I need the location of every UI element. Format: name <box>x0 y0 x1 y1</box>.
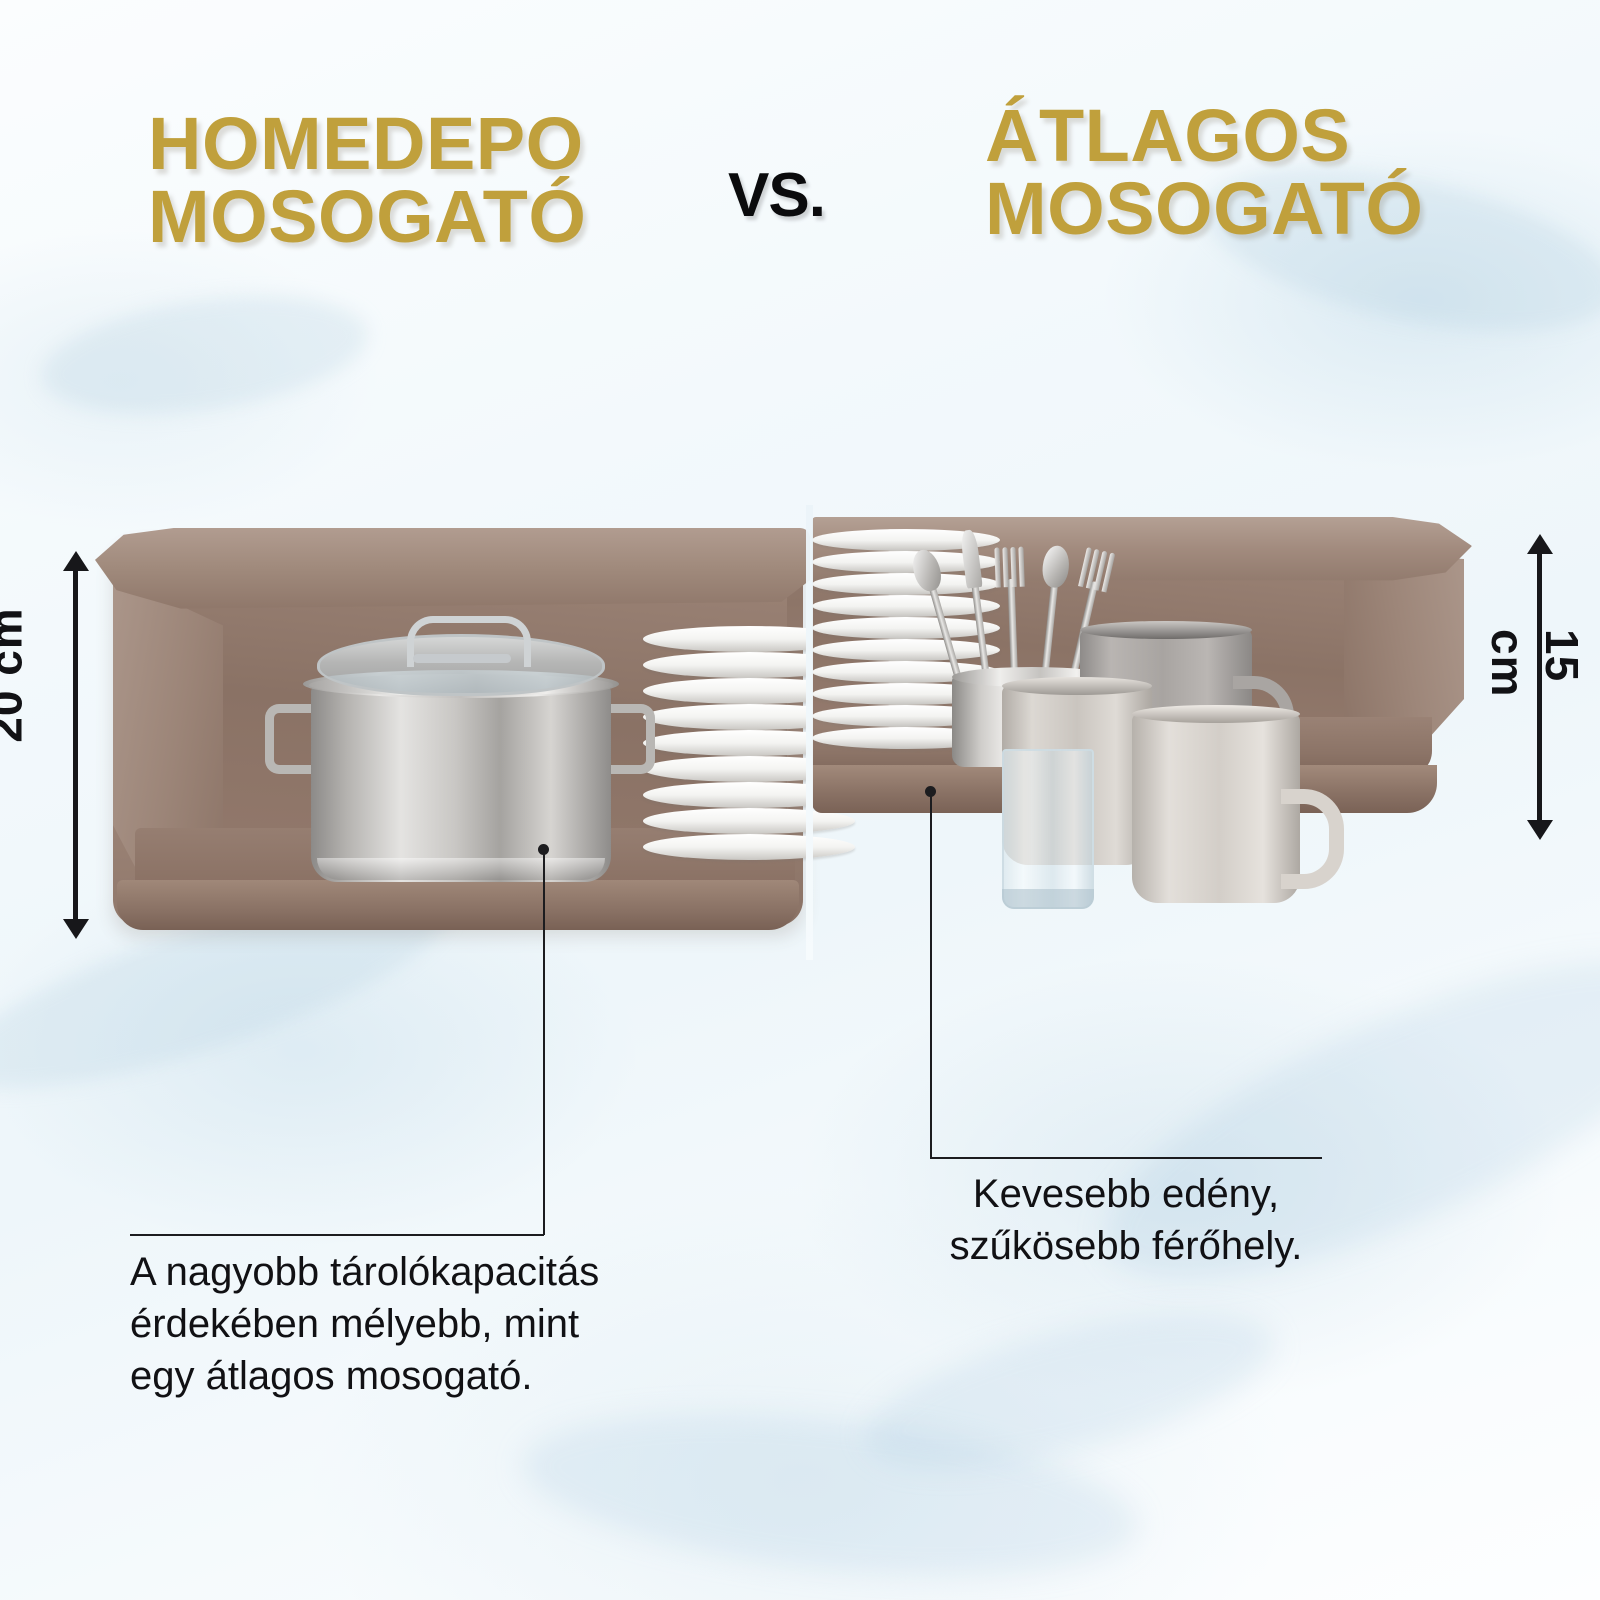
caption-left: A nagyobb tárolókapacitás érdekében mély… <box>130 1246 599 1402</box>
marble-vein <box>1067 898 1600 1341</box>
arrow-head-down <box>63 919 89 939</box>
sink-rim <box>95 528 810 612</box>
deep-sink-photo <box>95 528 810 946</box>
dimension-line <box>73 566 78 921</box>
sink-front-edge <box>117 880 799 930</box>
leader-vertical <box>930 794 932 1158</box>
mug-rim <box>1002 677 1152 695</box>
comparison-infographic: HOMEDEPO MOSOGATÓ VS. ÁTLAGOS MOSOGATÓ <box>0 0 1600 1600</box>
mug-handle <box>1281 789 1344 889</box>
headline-right: ÁTLAGOS MOSOGATÓ <box>985 100 1423 245</box>
plate <box>812 595 1000 617</box>
mug-rim <box>1132 705 1300 723</box>
photo-divider <box>806 505 813 960</box>
leader-horizontal <box>930 1157 1322 1159</box>
plate <box>812 617 1000 639</box>
drinking-glass <box>1002 749 1094 909</box>
shallow-sink-photo <box>812 517 1472 857</box>
caption-right: Kevesebb edény, szűkösebb férőhely. <box>930 1168 1322 1272</box>
leader-horizontal <box>130 1234 544 1236</box>
marble-vein <box>34 278 376 433</box>
pot-body <box>311 684 611 882</box>
pot-lid-knob-base <box>413 654 511 663</box>
vs-label: VS. <box>728 160 825 231</box>
arrow-head-down <box>1527 820 1553 840</box>
product-photo-band <box>0 505 1600 960</box>
dimension-label-right: 15 cm <box>1481 629 1589 759</box>
dimension-label-left: 20 cm <box>0 607 33 742</box>
headline-left: HOMEDEPO MOSOGATÓ <box>148 108 586 253</box>
leader-vertical <box>543 852 545 1235</box>
mug-rim <box>1080 621 1252 639</box>
mug-beige-front <box>1132 713 1300 903</box>
stock-pot <box>295 608 625 883</box>
